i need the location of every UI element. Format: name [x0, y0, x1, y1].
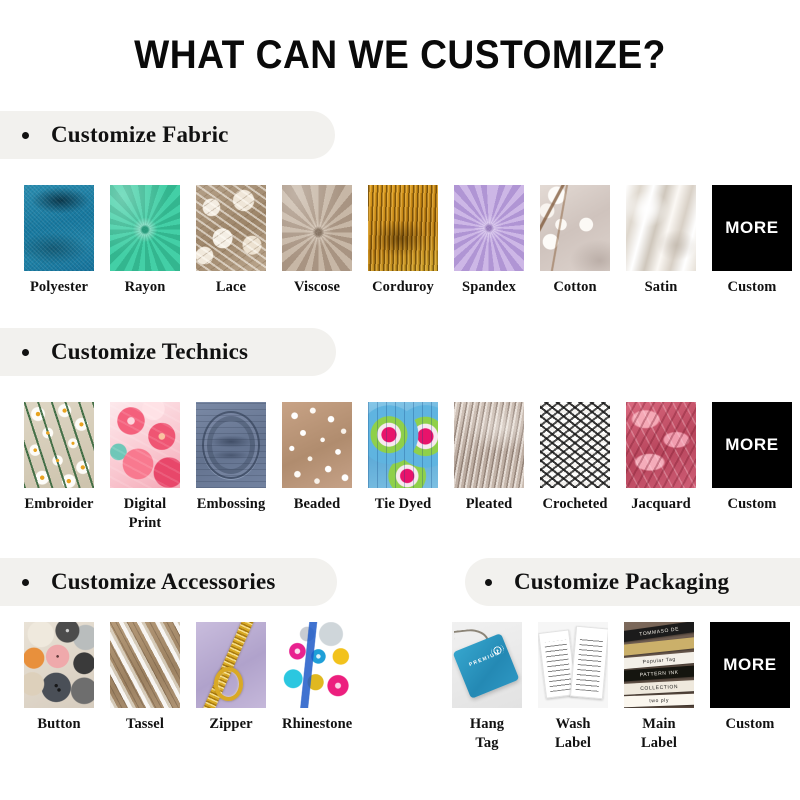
rhinestone-swatch[interactable] — [282, 622, 352, 708]
swatch-item-custom-technics[interactable]: MORE Custom — [712, 402, 792, 514]
zipper-swatch[interactable] — [196, 622, 266, 708]
jacquard-swatch[interactable] — [626, 402, 696, 488]
swatch-item-rayon[interactable]: Rayon — [110, 185, 180, 297]
more-tile[interactable]: MORE — [712, 185, 792, 271]
more-label: MORE — [725, 218, 778, 238]
section-title-technics: Customize Technics — [51, 339, 248, 365]
tie-dyed-swatch[interactable] — [368, 402, 438, 488]
swatch-item-viscose[interactable]: Viscose — [282, 185, 352, 297]
swatch-item-corduroy[interactable]: Corduroy — [368, 185, 438, 297]
swatch-item-spandex[interactable]: Spandex — [454, 185, 524, 297]
section-title-accessories: Customize Accessories — [51, 569, 276, 595]
lace-swatch[interactable] — [196, 185, 266, 271]
bullet-icon — [22, 349, 29, 356]
section-header-packaging: Customize Packaging — [465, 558, 800, 606]
swatch-caption: Viscose — [294, 278, 340, 297]
swatch-item-embroider[interactable]: Embroider — [24, 402, 94, 514]
swatch-item-crocheted[interactable]: Crocheted — [540, 402, 610, 514]
swatch-item-satin[interactable]: Satin — [626, 185, 696, 297]
swatch-caption: Jacquard — [631, 495, 691, 514]
rayon-swatch[interactable] — [110, 185, 180, 271]
more-label: MORE — [723, 655, 776, 675]
swatch-caption: Corduroy — [372, 278, 434, 297]
swatch-item-pleated[interactable]: Pleated — [454, 402, 524, 514]
page-title: WHAT CAN WE CUSTOMIZE? — [28, 0, 772, 78]
wash-label-swatch[interactable] — [538, 622, 608, 708]
swatch-caption: Hang Tag — [470, 715, 504, 752]
embossing-swatch[interactable] — [196, 402, 266, 488]
swatch-caption: Custom — [728, 278, 777, 297]
swatch-row-fabric: Polyester Rayon Lace Viscose Corduroy Sp… — [24, 185, 792, 297]
swatch-row-accessories: Button Tassel Zipper Rhinestone — [24, 622, 352, 734]
swatch-caption: Tassel — [126, 715, 164, 734]
swatch-caption: Custom — [728, 495, 777, 514]
swatch-item-beaded[interactable]: Beaded — [282, 402, 352, 514]
swatch-caption: Crocheted — [542, 495, 607, 514]
swatch-caption: Lace — [216, 278, 246, 297]
swatch-caption: Satin — [645, 278, 678, 297]
pleated-swatch[interactable] — [454, 402, 524, 488]
swatch-row-packaging: PREMIUM Hang Tag Wash Label TOMMASO DE P… — [452, 622, 790, 752]
swatch-caption: Beaded — [294, 495, 341, 514]
swatch-caption: Zipper — [209, 715, 252, 734]
crocheted-swatch[interactable] — [540, 402, 610, 488]
swatch-caption: Spandex — [462, 278, 516, 297]
digital-print-swatch[interactable] — [110, 402, 180, 488]
swatch-item-digital-print[interactable]: Digital Print — [110, 402, 180, 532]
swatch-caption: Polyester — [30, 278, 88, 297]
more-tile[interactable]: MORE — [712, 402, 792, 488]
swatch-caption: Rhinestone — [282, 715, 352, 734]
swatch-item-embossing[interactable]: Embossing — [196, 402, 266, 514]
main-label-swatch[interactable]: TOMMASO DE Popular Tag PATTERN INK COLLE… — [624, 622, 694, 708]
woven-label-row: two ply — [624, 694, 694, 708]
corduroy-swatch[interactable] — [368, 185, 438, 271]
swatch-caption: Pleated — [466, 495, 513, 514]
swatch-caption: Main Label — [641, 715, 677, 752]
swatch-caption: Tie Dyed — [375, 495, 432, 514]
swatch-item-button[interactable]: Button — [24, 622, 94, 734]
swatch-caption: Cotton — [553, 278, 596, 297]
care-label-right — [570, 626, 608, 699]
swatch-caption: Embossing — [197, 495, 266, 514]
viscose-swatch[interactable] — [282, 185, 352, 271]
section-header-accessories: Customize Accessories — [0, 558, 337, 606]
tassel-swatch[interactable] — [110, 622, 180, 708]
swatch-item-jacquard[interactable]: Jacquard — [626, 402, 696, 514]
swatch-item-zipper[interactable]: Zipper — [196, 622, 266, 734]
more-tile[interactable]: MORE — [710, 622, 790, 708]
hang-tag-swatch[interactable]: PREMIUM — [452, 622, 522, 708]
swatch-caption: Digital Print — [124, 495, 167, 532]
swatch-caption: Rayon — [125, 278, 166, 297]
section-header-technics: Customize Technics — [0, 328, 336, 376]
woven-label-row: COLLECTION — [624, 680, 694, 695]
cotton-swatch[interactable] — [540, 185, 610, 271]
swatch-item-tassel[interactable]: Tassel — [110, 622, 180, 734]
satin-swatch[interactable] — [626, 185, 696, 271]
button-swatch[interactable] — [24, 622, 94, 708]
swatch-item-custom-packaging[interactable]: MORE Custom — [710, 622, 790, 734]
swatch-caption: Button — [37, 715, 80, 734]
swatch-caption: Embroider — [24, 495, 93, 514]
customize-infographic: WHAT CAN WE CUSTOMIZE? Customize Fabric … — [0, 0, 800, 800]
swatch-item-polyester[interactable]: Polyester — [24, 185, 94, 297]
beaded-swatch[interactable] — [282, 402, 352, 488]
bullet-icon — [22, 132, 29, 139]
swatch-item-lace[interactable]: Lace — [196, 185, 266, 297]
polyester-swatch[interactable] — [24, 185, 94, 271]
swatch-item-rhinestone[interactable]: Rhinestone — [282, 622, 352, 734]
bullet-icon — [22, 579, 29, 586]
swatch-item-tie-dyed[interactable]: Tie Dyed — [368, 402, 438, 514]
section-title-packaging: Customize Packaging — [514, 569, 729, 595]
swatch-item-wash-label[interactable]: Wash Label — [538, 622, 608, 752]
swatch-caption: Custom — [726, 715, 775, 734]
embroider-swatch[interactable] — [24, 402, 94, 488]
bullet-icon — [485, 579, 492, 586]
spandex-swatch[interactable] — [454, 185, 524, 271]
swatch-item-custom-fabric[interactable]: MORE Custom — [712, 185, 792, 297]
swatch-item-main-label[interactable]: TOMMASO DE Popular Tag PATTERN INK COLLE… — [624, 622, 694, 752]
swatch-row-technics: Embroider Digital Print Embossing Beaded… — [24, 402, 792, 532]
more-label: MORE — [725, 435, 778, 455]
section-title-fabric: Customize Fabric — [51, 122, 229, 148]
swatch-item-cotton[interactable]: Cotton — [540, 185, 610, 297]
swatch-caption: Wash Label — [555, 715, 591, 752]
swatch-item-hang-tag[interactable]: PREMIUM Hang Tag — [452, 622, 522, 752]
section-header-fabric: Customize Fabric — [0, 111, 335, 159]
